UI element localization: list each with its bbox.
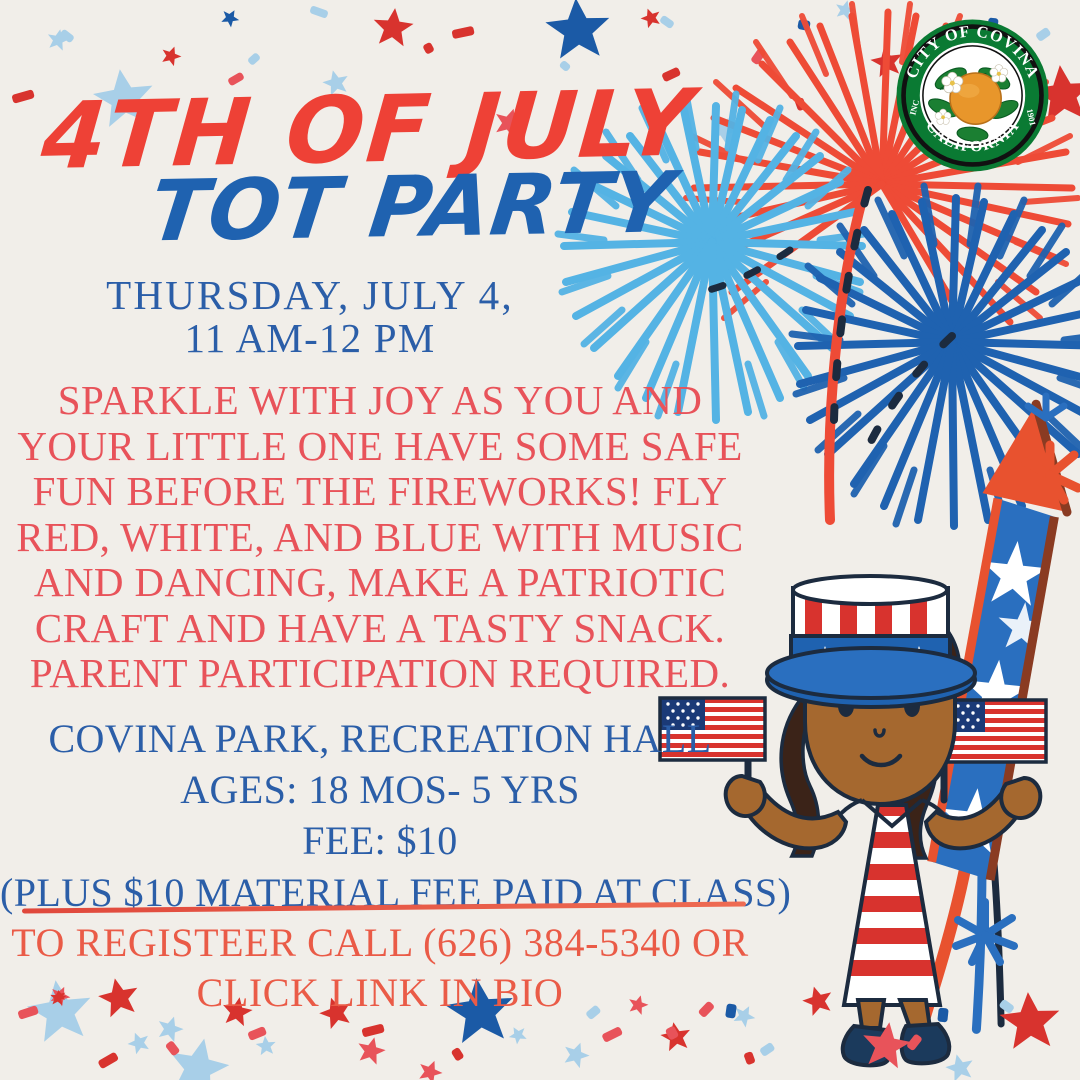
description-line: PARENT PARTICIPATION REQUIRED. (10, 651, 750, 697)
event-time-line-2: 11 AM-12 PM (0, 317, 620, 360)
right-flag-icon (940, 700, 1046, 800)
description-line: AND DANCING, MAKE A PATRIOTIC (10, 560, 750, 606)
description-line: CRAFT AND HAVE A TASTY SNACK. (10, 606, 750, 652)
dark-blue-firework-burst (792, 186, 1080, 526)
uncle-sam-hat-icon (767, 576, 975, 707)
event-date-block: THURSDAY, JULY 4, 11 AM-12 PM (0, 274, 620, 361)
description-line: FUN BEFORE THE FIREWORKS! FLY (10, 469, 750, 515)
description-line: YOUR LITTLE ONE HAVE SOME SAFE (10, 424, 750, 470)
title-block: 4TH OF JULY TOT PARTY (0, 96, 700, 254)
page-title-sub: TOT PARTY (0, 162, 707, 254)
event-date-line-1: THURSDAY, JULY 4, (0, 274, 620, 317)
small-blue-sparkle-icon (1028, 396, 1064, 418)
description-line: SPARKLE WITH JOY AS YOU AND (10, 378, 750, 424)
description-line: RED, WHITE, AND BLUE WITH MUSIC (10, 515, 750, 561)
girl-hands (726, 776, 1041, 818)
registration-link-line: CLICK LINK IN BIO (0, 968, 760, 1018)
registration-phone-line: TO REGISTEER CALL (626) 384-5340 OR (0, 918, 760, 968)
girl-shoes (843, 1024, 950, 1065)
girl-arms (739, 783, 1026, 848)
event-ages: AGES: 18 MOS- 5 YRS (0, 764, 760, 815)
girl-dress (828, 795, 960, 1015)
girl-legs (858, 1000, 930, 1028)
city-of-covina-seal: CITY OF COVINA CALIFORNIA INC 1901 (895, 18, 1050, 173)
girl-head (800, 596, 960, 804)
rocket-stars (938, 536, 1056, 856)
event-description: SPARKLE WITH JOY AS YOU AND YOUR LITTLE … (10, 378, 750, 697)
orange-sparkle-icon (1026, 445, 1078, 500)
event-details: COVINA PARK, RECREATION HALL AGES: 18 MO… (0, 713, 760, 918)
hair-braids (781, 700, 937, 858)
event-fee: FEE: $10 (0, 815, 760, 866)
poster-canvas: CITY OF COVINA CALIFORNIA INC 1901 4TH O… (0, 0, 1080, 1080)
event-location: COVINA PARK, RECREATION HALL (0, 713, 760, 764)
blue-sparkle-icon (956, 902, 1014, 962)
registration-info: TO REGISTEER CALL (626) 384-5340 OR CLIC… (0, 918, 760, 1019)
